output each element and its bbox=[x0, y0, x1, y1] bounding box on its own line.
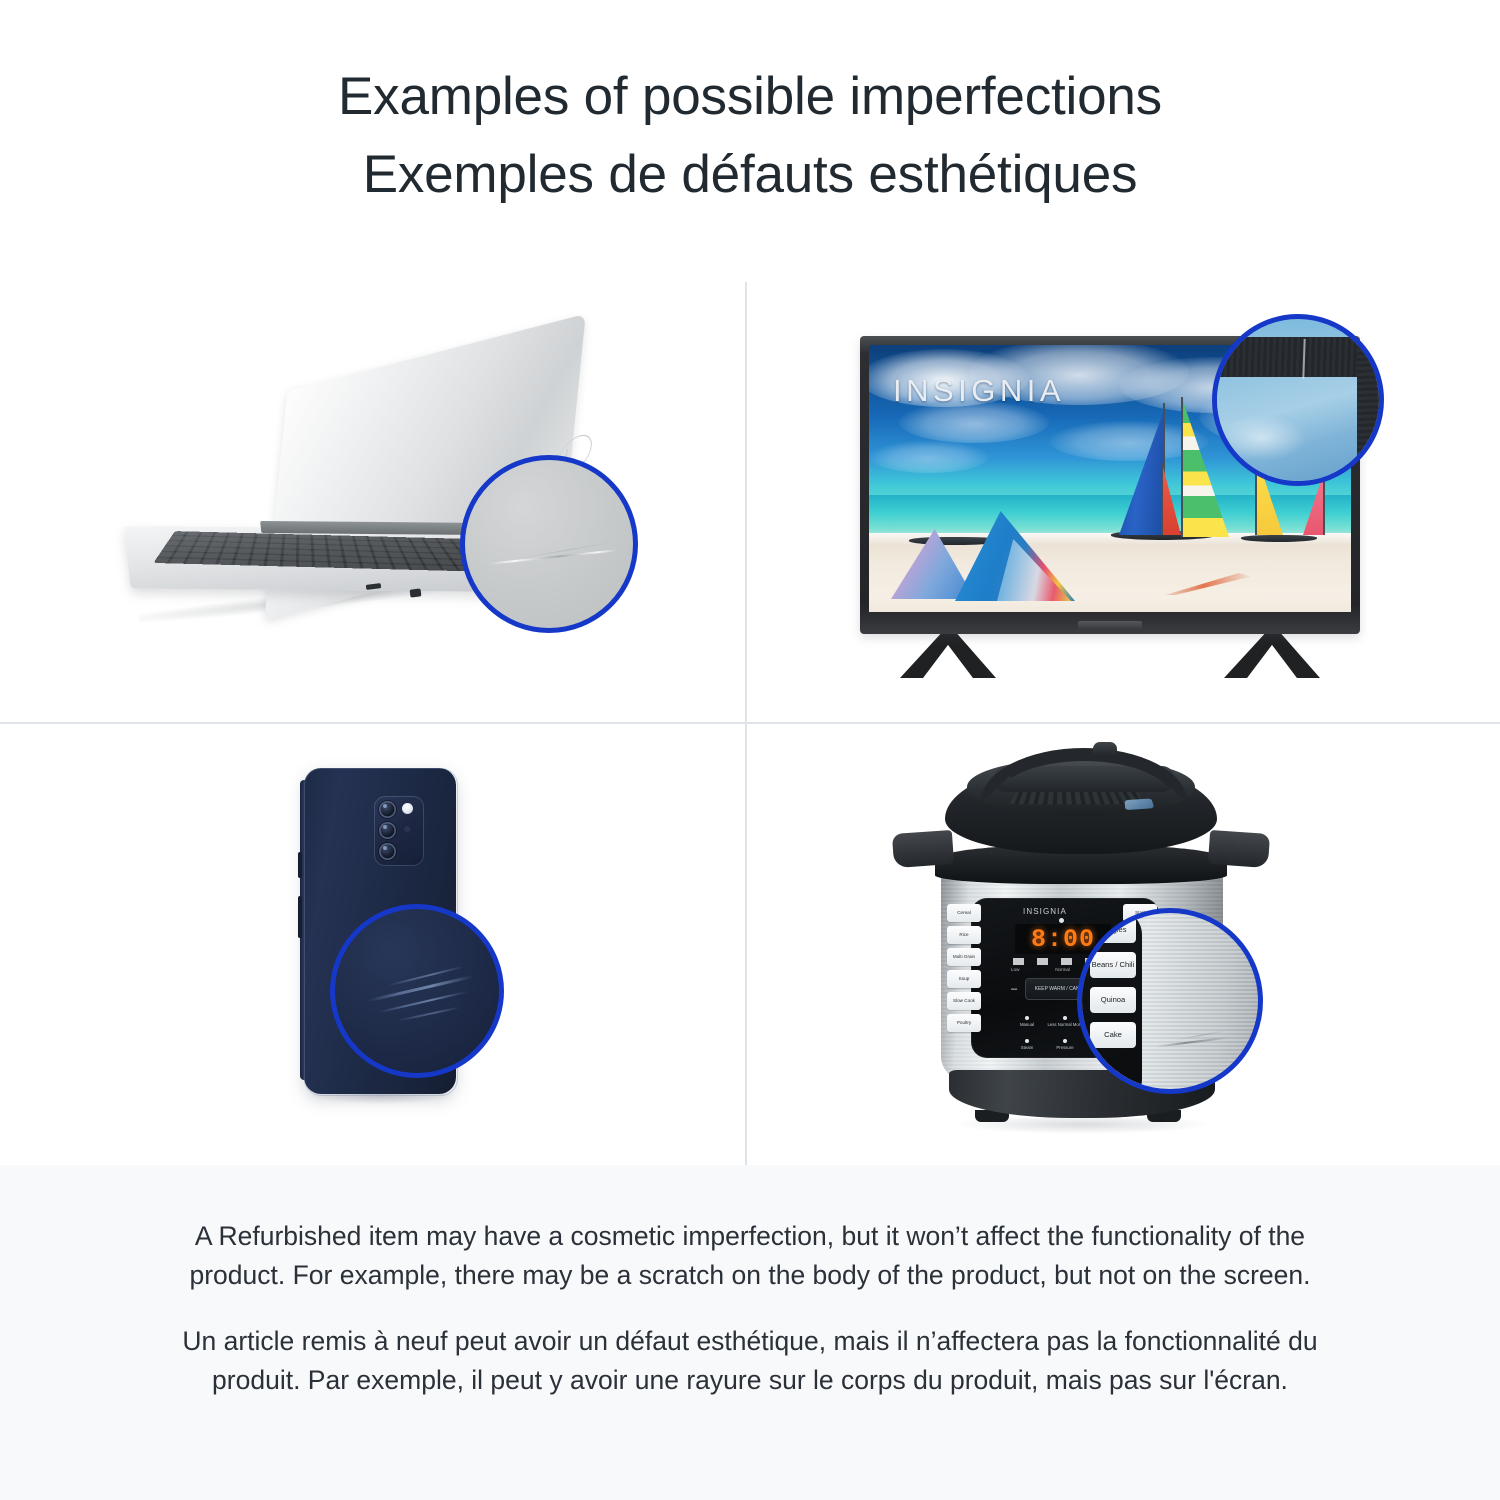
magnifier-laptop-scratch bbox=[460, 455, 638, 633]
quadrant-smartphone bbox=[0, 724, 745, 1165]
infographic-page: Examples of possible imperfections Exemp… bbox=[0, 0, 1500, 1500]
phone-scratch-mark bbox=[388, 966, 464, 987]
tv-screen-brand-logo: INSIGNIA bbox=[893, 373, 1065, 409]
quadrant-television: INSIGNIA bbox=[747, 282, 1500, 722]
footer-text-block: A Refurbished item may have a cosmetic i… bbox=[180, 1217, 1320, 1400]
tv-bottom-badge bbox=[1078, 621, 1142, 630]
laptop-hinge bbox=[260, 521, 490, 535]
phone-scratch-mark bbox=[397, 1006, 460, 1021]
camera-lens-icon bbox=[379, 843, 396, 860]
pressure-cooker-illustration: INSIGNIA 8:00 Low Normal Many – KEEP WAR… bbox=[897, 740, 1317, 1150]
boat-hull bbox=[1241, 535, 1317, 542]
quadrant-pressure-cooker: INSIGNIA 8:00 Low Normal Many – KEEP WAR… bbox=[747, 724, 1500, 1165]
camera-flash-icon bbox=[402, 803, 413, 814]
cooker-pressure-valve bbox=[1093, 742, 1117, 756]
cooker-preset-button[interactable]: Soup bbox=[947, 970, 981, 988]
cooker-preset-button[interactable]: Multi Grain bbox=[947, 948, 981, 966]
page-title: Examples of possible imperfections Exemp… bbox=[0, 58, 1500, 214]
cooker-preset-button-zoom[interactable]: Cake bbox=[1090, 1022, 1136, 1048]
laptop-power-port bbox=[410, 588, 422, 597]
page-title-french: Exemples de défauts esthétiques bbox=[0, 136, 1500, 214]
phone-volume-button bbox=[298, 852, 302, 878]
cooker-brand-label: INSIGNIA bbox=[1023, 907, 1067, 916]
bar-label: Low bbox=[1011, 967, 1019, 972]
cooker-panel-zoom-buttons: Veggies Beans / Chili Quinoa Cake bbox=[1090, 917, 1136, 1048]
cooker-preset-button[interactable]: Cereal bbox=[947, 904, 981, 922]
smartphone-illustration bbox=[250, 756, 510, 1136]
cooker-preset-button[interactable]: Rice bbox=[947, 926, 981, 944]
beach-kite bbox=[955, 505, 1089, 601]
cooker-preset-button[interactable]: Slow Cook bbox=[947, 992, 981, 1010]
cooker-minus-button[interactable]: – bbox=[1011, 984, 1017, 995]
laptop-illustration bbox=[120, 352, 640, 662]
examples-grid: INSIGNIA bbox=[0, 282, 1500, 1165]
cooker-mode-button[interactable]: Manual bbox=[1009, 1006, 1045, 1027]
phone-scratch-mark bbox=[368, 975, 474, 1002]
camera-lens-icon bbox=[379, 801, 396, 818]
cooker-preset-button[interactable]: Poultry bbox=[947, 1014, 981, 1032]
magnifier-cooker-scratch: Delay Slow Cook Veggies Beans / Chili Qu… bbox=[1077, 908, 1263, 1094]
quadrant-laptop bbox=[0, 282, 745, 722]
television-illustration: INSIGNIA bbox=[852, 314, 1412, 704]
cooker-handle-right bbox=[1208, 830, 1270, 868]
camera-sensor-icon bbox=[404, 826, 410, 832]
magnifier-tv-scratch bbox=[1212, 314, 1384, 486]
footer-paragraph-english: A Refurbished item may have a cosmetic i… bbox=[180, 1217, 1320, 1295]
camera-lens-icon bbox=[379, 822, 396, 839]
cloud bbox=[869, 441, 989, 473]
tv-bezel-zoom-right bbox=[1357, 337, 1384, 486]
cooker-preset-button-zoom[interactable]: Veggies bbox=[1090, 917, 1136, 943]
cooker-mode-button[interactable]: Steam bbox=[1009, 1029, 1045, 1050]
cooker-preset-button-zoom[interactable]: Beans / Chili bbox=[1090, 952, 1136, 978]
phone-power-button bbox=[298, 896, 302, 938]
page-title-english: Examples of possible imperfections bbox=[0, 58, 1500, 136]
cooker-mode-button[interactable]: Pressure bbox=[1047, 1029, 1083, 1050]
cooker-handle-left bbox=[892, 830, 954, 868]
tv-leg-left bbox=[900, 632, 996, 678]
cooker-left-button-column: Cereal Rice Multi Grain Soup Slow Cook P… bbox=[947, 904, 981, 1032]
footer-panel: A Refurbished item may have a cosmetic i… bbox=[0, 1165, 1500, 1500]
phone-camera-module bbox=[374, 796, 424, 866]
footer-paragraph-french: Un article remis à neuf peut avoir un dé… bbox=[180, 1322, 1320, 1400]
cooker-lid-handle bbox=[981, 748, 1187, 804]
tv-screen-zoom bbox=[1212, 375, 1359, 486]
beach-kite bbox=[1165, 557, 1255, 595]
cooker-status-indicator bbox=[1059, 918, 1064, 923]
bar-label: Normal bbox=[1055, 967, 1070, 972]
magnifier-phone-scratch bbox=[330, 904, 504, 1078]
tv-leg-right bbox=[1224, 632, 1320, 678]
cooker-preset-button-zoom[interactable]: Quinoa bbox=[1090, 987, 1136, 1013]
